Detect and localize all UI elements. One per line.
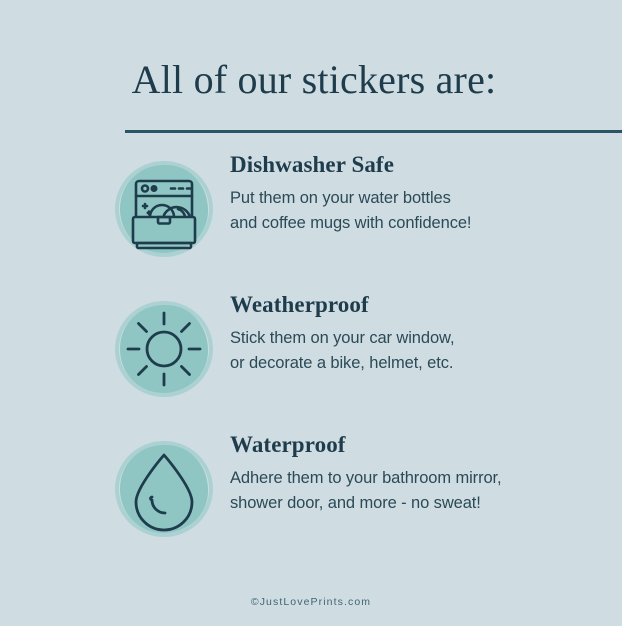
feature-description: Stick them on your car window, or decora… xyxy=(230,326,622,376)
feature-title: Waterproof xyxy=(230,432,622,457)
feature-icon-badge xyxy=(114,299,214,399)
footer-credit: ©JustLovePrints.com xyxy=(251,596,371,608)
feature-text: Weatherproof Stick them on your car wind… xyxy=(214,292,622,376)
title-divider xyxy=(125,130,622,133)
water-droplet-icon xyxy=(114,439,214,539)
feature-item-waterproof: Waterproof Adhere them to your bathroom … xyxy=(0,432,622,572)
feature-description-line: and coffee mugs with confidence! xyxy=(230,211,622,236)
sticker-features-card: All of our stickers are: xyxy=(0,0,622,626)
footer: ©JustLovePrints.com xyxy=(0,592,622,610)
feature-description-line: Stick them on your car window, xyxy=(230,326,622,351)
feature-list: Dishwasher Safe Put them on your water b… xyxy=(0,152,622,572)
feature-description: Adhere them to your bathroom mirror, sho… xyxy=(230,466,622,516)
feature-title: Dishwasher Safe xyxy=(230,152,622,177)
feature-item-weatherproof: Weatherproof Stick them on your car wind… xyxy=(0,292,622,432)
feature-text: Waterproof Adhere them to your bathroom … xyxy=(214,432,622,516)
feature-description-line: or decorate a bike, helmet, etc. xyxy=(230,351,622,376)
feature-icon-badge xyxy=(114,439,214,539)
feature-text: Dishwasher Safe Put them on your water b… xyxy=(214,152,622,236)
feature-description-line: Adhere them to your bathroom mirror, xyxy=(230,466,622,491)
sun-icon xyxy=(114,299,214,399)
feature-description: Put them on your water bottles and coffe… xyxy=(230,186,622,236)
dishwasher-icon xyxy=(114,159,214,259)
page-title: All of our stickers are: xyxy=(0,58,622,102)
feature-title: Weatherproof xyxy=(230,292,622,317)
header: All of our stickers are: xyxy=(0,58,622,102)
feature-icon-badge xyxy=(114,159,214,259)
feature-description-line: Put them on your water bottles xyxy=(230,186,622,211)
feature-description-line: shower door, and more - no sweat! xyxy=(230,491,622,516)
feature-item-dishwasher-safe: Dishwasher Safe Put them on your water b… xyxy=(0,152,622,292)
